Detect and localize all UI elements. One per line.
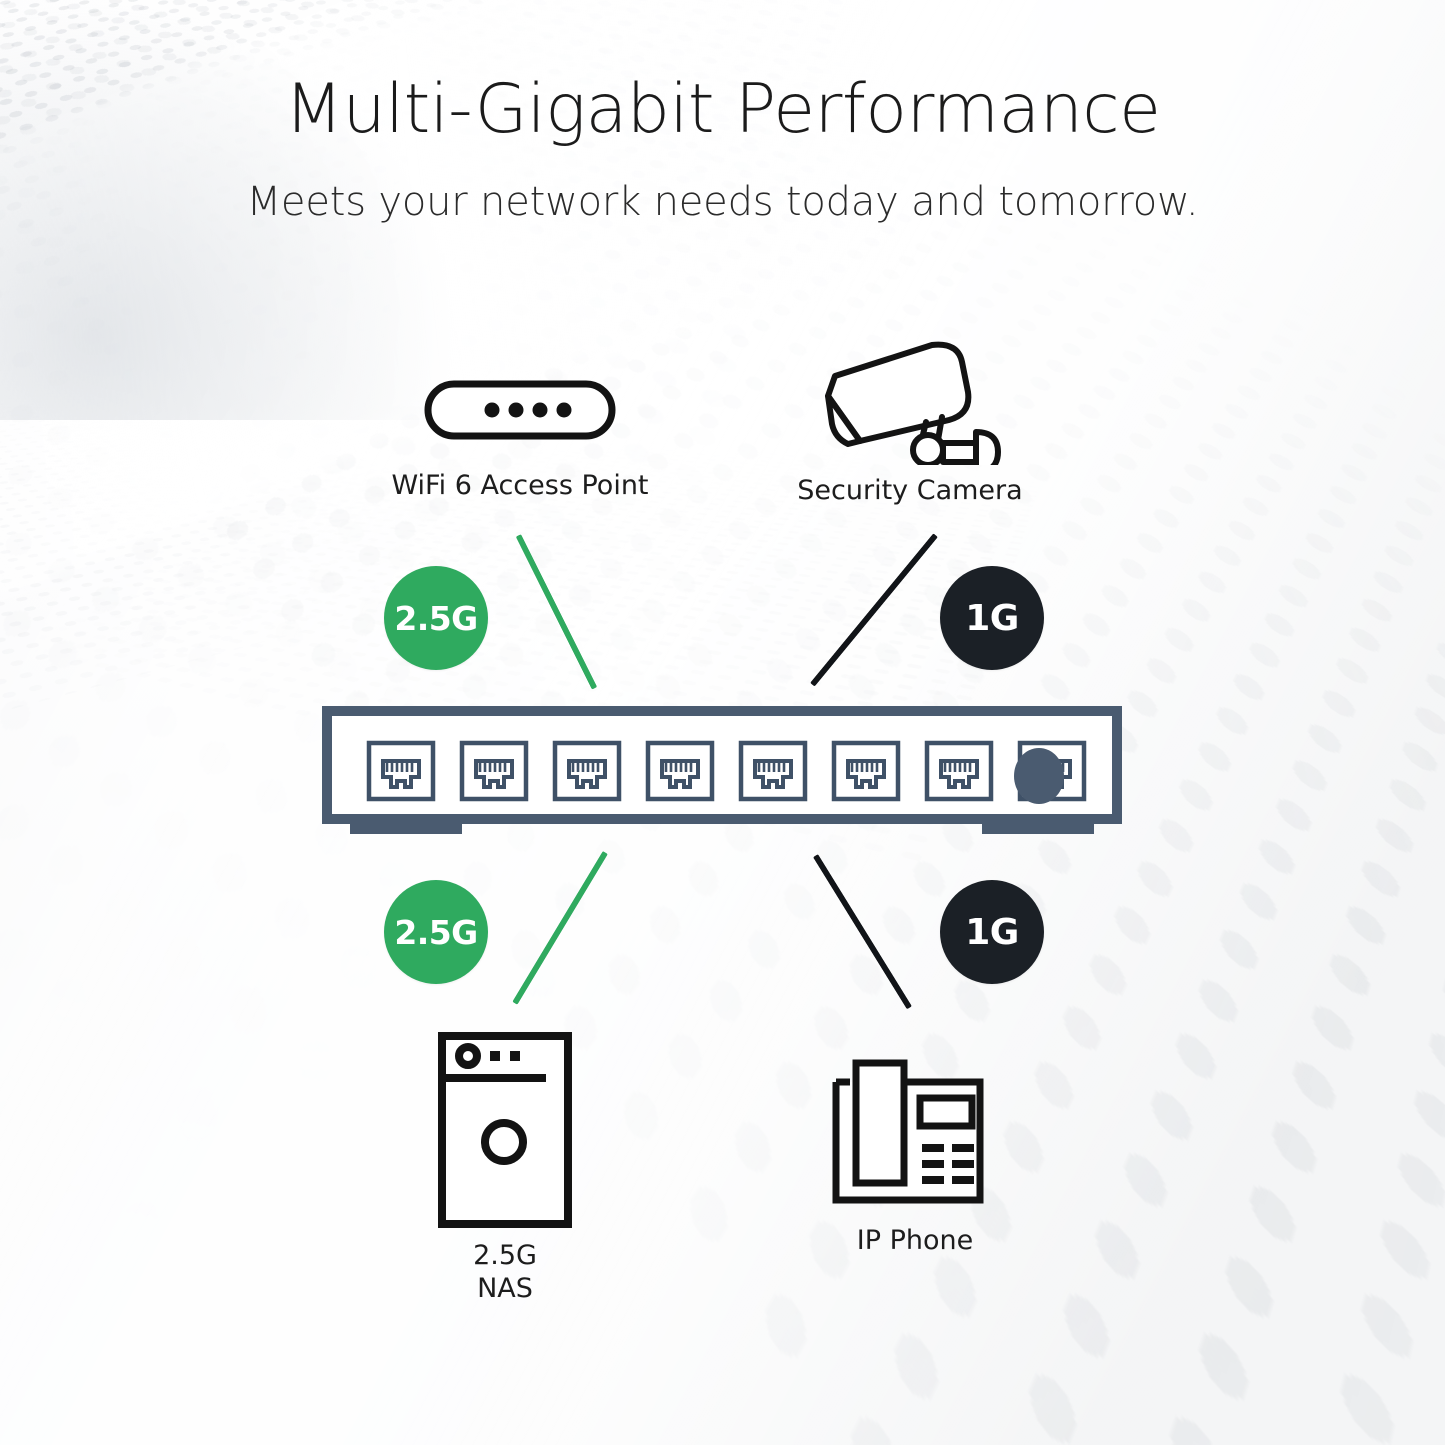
device-label-security-camera: Security Camera <box>720 475 1100 508</box>
device-nas[interactable]: 2.5G NAS <box>330 1030 680 1306</box>
device-security-camera[interactable]: Security Camera <box>720 340 1100 508</box>
header-block: Multi-Gigabit Performance Meets your net… <box>0 74 1445 225</box>
link-line-camera <box>810 533 938 687</box>
speed-badge-value: 1G <box>965 598 1018 639</box>
nas-server-icon <box>436 1030 574 1230</box>
speed-badge-value: 2.5G <box>394 913 477 952</box>
speed-badge-top-right: 1G <box>940 566 1044 670</box>
speed-badge-value: 1G <box>965 912 1018 953</box>
network-switch[interactable] <box>322 706 1122 841</box>
device-label-ip-phone: IP Phone <box>740 1225 1090 1258</box>
page-title: Multi-Gigabit Performance <box>0 74 1445 145</box>
link-line-nas <box>512 851 608 1005</box>
device-ip-phone[interactable]: IP Phone <box>740 1050 1090 1258</box>
speed-badge-top-left: 2.5G <box>384 566 488 670</box>
infographic-canvas: Multi-Gigabit Performance Meets your net… <box>0 0 1445 1445</box>
speed-badge-bottom-right: 1G <box>940 880 1044 984</box>
switch-power-indicator[interactable] <box>1014 748 1064 804</box>
speed-badge-value: 2.5G <box>394 599 477 638</box>
page-subtitle: Meets your network needs today and tomor… <box>0 179 1445 225</box>
speed-badge-bottom-left: 2.5G <box>384 880 488 984</box>
ip-phone-icon <box>828 1050 1003 1215</box>
security-camera-icon <box>808 340 1013 465</box>
device-wifi6-access-point[interactable]: WiFi 6 Access Point <box>330 360 710 503</box>
device-label-nas: 2.5G NAS <box>330 1240 680 1306</box>
device-label-wifi6-access-point: WiFi 6 Access Point <box>330 470 710 503</box>
link-line-wifi6 <box>516 534 598 690</box>
link-line-ip-phone <box>813 854 912 1009</box>
wifi-access-point-icon <box>420 360 620 460</box>
